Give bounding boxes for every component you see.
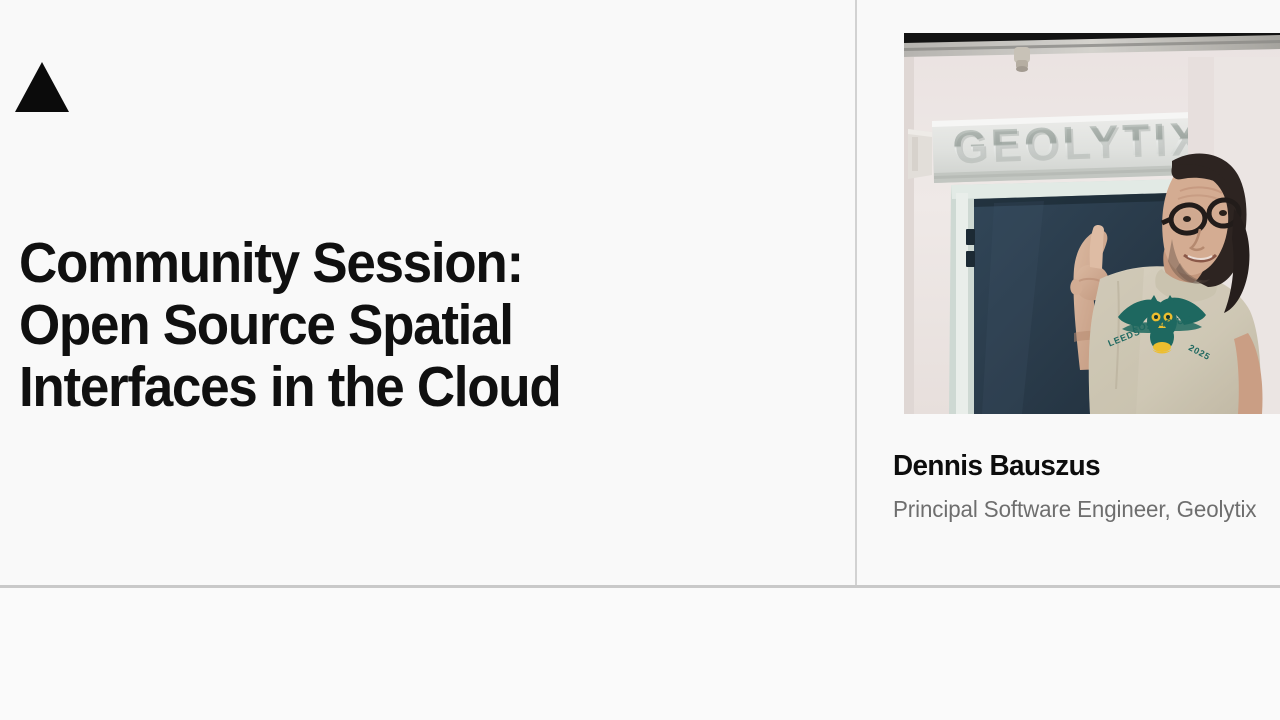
speaker-role: Principal Software Engineer, Geolytix [893, 494, 1271, 524]
speaker-photo-illustration: GEOLYTIX GEOLYTIX [904, 33, 1280, 414]
page-title: Community Session: Open Source Spatial I… [19, 232, 754, 418]
bottom-band [0, 588, 1280, 720]
triangle-logo-icon [15, 62, 69, 112]
title-panel: Community Session: Open Source Spatial I… [0, 0, 855, 586]
speaker-panel: GEOLYTIX GEOLYTIX [857, 0, 1280, 586]
speaker-name: Dennis Bauszus [893, 448, 1100, 484]
presentation-slide: Community Session: Open Source Spatial I… [0, 0, 1280, 720]
speaker-photo: GEOLYTIX GEOLYTIX [904, 33, 1280, 414]
